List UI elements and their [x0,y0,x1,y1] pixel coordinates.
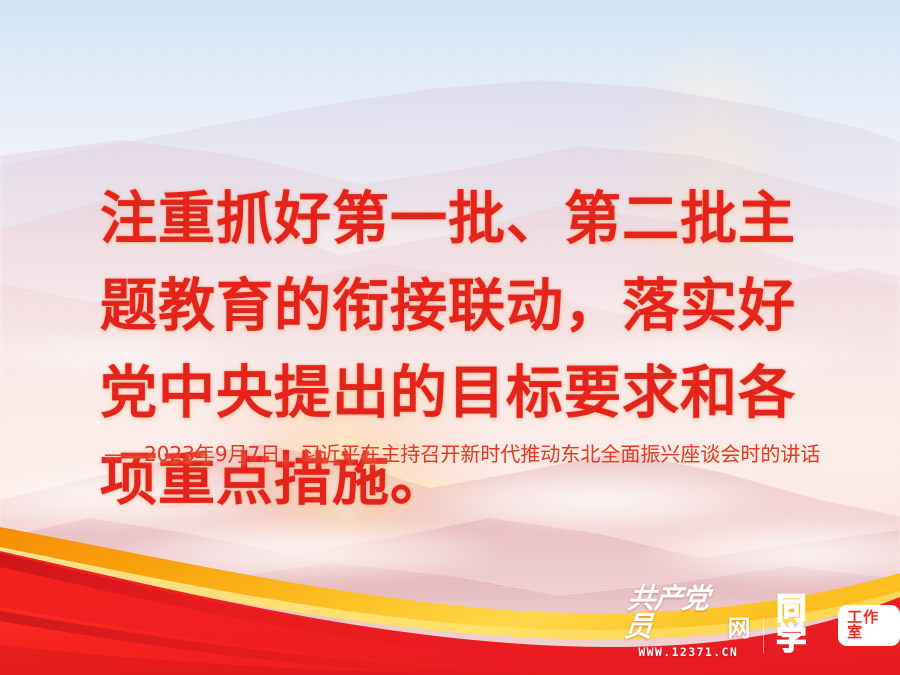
cpc-calligraphy-text: 共产党员 [623,585,727,641]
studio-label-badge: 工作室 [838,605,900,646]
cpc-website-url[interactable]: WWW.12371.CN [638,645,738,659]
logo-group[interactable]: 共产党员 网 WWW.12371.CN 同学 工作室 [626,585,900,659]
poster-canvas: 注重抓好第一批、第二批主题教育的衔接联动，落实好党中央提出的目标要求和各项重点措… [0,0,900,675]
cpc-logo[interactable]: 共产党员 网 WWW.12371.CN [626,585,751,659]
cpc-net-character: 网 [728,618,751,641]
quote-attribution: ——2023年9月7日，习近平在主持召开新时代推动东北全面振兴座谈会时的讲话 [104,438,844,471]
cpc-logo-row: 共产党员 网 [626,585,751,641]
logo-divider [763,617,765,653]
studio-name-text: 同学 [776,595,833,655]
page-title: 注重抓好第一批、第二批主题教育的衔接联动，落实好党中央提出的目标要求和各项重点措… [100,176,830,524]
studio-logo[interactable]: 同学 工作室 [776,595,900,659]
